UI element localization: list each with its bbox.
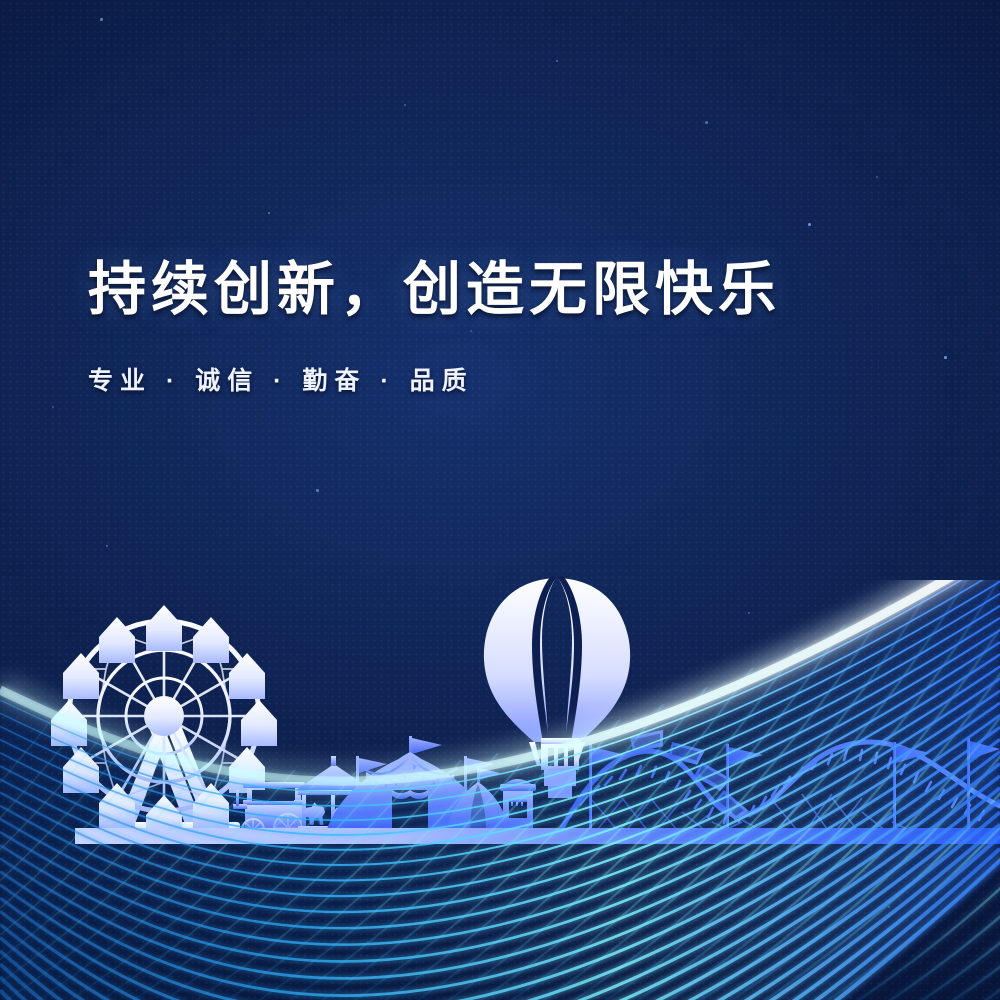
- banner-copy: 持续创新，创造无限快乐 专业 · 诚信 · 勤奋 · 品质: [88, 258, 928, 397]
- amusement-park-skyline: [0, 0, 1000, 1000]
- roller-coaster: [552, 730, 1000, 843]
- page-title: 持续创新，创造无限快乐: [88, 258, 928, 323]
- coaster-train: [630, 730, 749, 823]
- ticket-booth: [500, 779, 536, 832]
- page-subtitle: 专业 · 诚信 · 勤奋 · 品质: [88, 361, 928, 397]
- ground-strip: [75, 828, 1000, 844]
- poster-canvas: 持续创新，创造无限快乐 专业 · 诚信 · 勤奋 · 品质: [0, 0, 1000, 1000]
